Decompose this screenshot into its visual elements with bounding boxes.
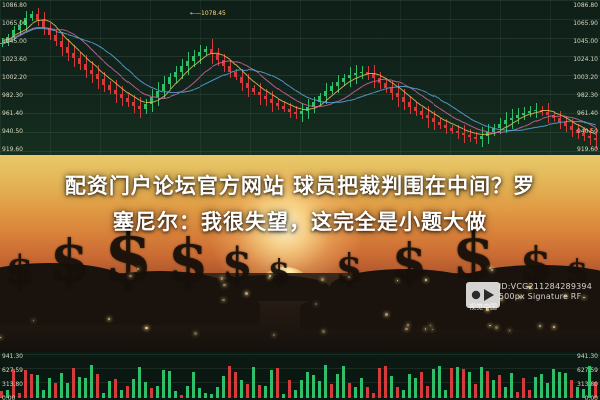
volume-bar — [24, 370, 27, 398]
volume-bar — [474, 384, 477, 398]
volume-bar — [150, 388, 153, 398]
axis-tick-label: 1086.80 — [573, 2, 598, 9]
volume-bar — [132, 379, 135, 398]
moving-average-segment — [301, 109, 307, 110]
volume-bar — [276, 368, 279, 398]
volume-bar — [552, 369, 555, 398]
axis-tick-label: 941.30 — [577, 353, 598, 360]
dollar-sign-icon: $ — [222, 243, 253, 287]
volume-bar — [102, 393, 105, 398]
volume-bar — [462, 369, 465, 398]
axis-tick-label: 1003.20 — [573, 74, 598, 81]
candle-body — [54, 35, 57, 41]
volume-bar — [114, 379, 117, 398]
volume-bar — [306, 372, 309, 398]
sparkle — [321, 278, 324, 281]
volume-bar — [486, 371, 489, 398]
candle-body — [360, 72, 363, 74]
moving-average-segment — [313, 106, 319, 107]
volume-bar — [384, 366, 387, 398]
candle-body — [510, 118, 513, 121]
candle-body — [390, 88, 393, 93]
volume-bar — [162, 370, 165, 399]
volume-bar — [336, 374, 339, 398]
sparkle — [245, 292, 248, 295]
bottom-volume-chart: 941.30627.59313.800.00 941.30627.59313.8… — [0, 352, 600, 400]
volume-bar — [96, 374, 99, 398]
candle-body — [108, 85, 111, 90]
candle-body — [564, 122, 567, 126]
top-chart-candles — [0, 0, 600, 160]
volume-bar — [342, 366, 345, 398]
candle-body — [186, 61, 189, 66]
volume-bar — [78, 377, 81, 398]
dollar-sign-icon: $ — [520, 241, 552, 287]
volume-bar — [288, 380, 291, 398]
watermark-id: ID:VCG211284289394 — [499, 282, 592, 291]
moving-average-segment — [512, 130, 518, 131]
volume-bar — [564, 373, 567, 398]
moving-average-segment — [325, 102, 331, 103]
axis-tick-label: 313.80 — [2, 381, 23, 388]
candle-body — [474, 137, 477, 139]
candle-body — [594, 138, 597, 140]
candle-body — [396, 93, 399, 98]
candle-body — [162, 84, 165, 91]
moving-average-segment — [242, 69, 248, 70]
volume-bar — [456, 367, 459, 398]
volume-bar — [414, 378, 417, 398]
candle-body — [234, 72, 237, 78]
candle-body — [258, 92, 261, 96]
volume-bar — [66, 383, 69, 398]
volume-bar — [234, 372, 237, 398]
candle-body — [78, 58, 81, 64]
volume-bar — [468, 372, 471, 398]
candle-body — [498, 124, 501, 128]
candle-body — [468, 135, 471, 137]
volume-bar — [372, 393, 375, 398]
volume-bar — [84, 378, 87, 398]
volume-bar — [378, 368, 381, 398]
dollar-sign-icon: $ — [50, 233, 89, 289]
sparkle — [553, 326, 555, 328]
volume-bar — [48, 378, 51, 398]
candle-body — [264, 96, 267, 100]
volume-bar — [360, 378, 363, 398]
volume-bar — [270, 370, 273, 398]
axis-tick-label: 940.50 — [577, 128, 598, 135]
volume-bar — [438, 366, 441, 398]
volume-bar — [294, 390, 297, 398]
volume-bar — [174, 391, 177, 398]
top-candlestick-chart: 1086.801065.001045.001023.601002.20982.3… — [0, 0, 600, 160]
candle-body — [114, 90, 117, 94]
axis-tick-label: 627.59 — [2, 367, 23, 374]
volume-bar — [444, 390, 447, 398]
top-chart-annotation: ←—1078.45 — [190, 10, 226, 17]
candle-body — [450, 128, 453, 131]
candle-body — [180, 66, 183, 72]
candle-body — [282, 106, 285, 109]
moving-average-segment — [505, 130, 511, 131]
volume-bar — [546, 383, 549, 398]
candle-body — [126, 98, 129, 102]
volume-bar — [204, 393, 207, 398]
volume-bar — [186, 386, 189, 398]
candle-body — [240, 77, 243, 83]
volume-bar — [36, 375, 39, 398]
candle-body — [144, 104, 147, 109]
volume-bar — [246, 384, 249, 398]
volume-bar — [510, 373, 513, 398]
candle-body — [204, 49, 207, 53]
candle-body — [90, 70, 93, 75]
candle-body — [408, 102, 411, 107]
sparkle — [407, 324, 409, 326]
sparkle — [491, 269, 493, 271]
moving-average-segment — [487, 132, 493, 134]
volume-bar — [228, 366, 231, 399]
volume-bar — [516, 392, 519, 398]
moving-average-segment — [554, 115, 560, 116]
volume-bar — [264, 386, 267, 398]
candle-body — [546, 112, 549, 115]
volume-bar — [426, 386, 429, 398]
dollar-sign-icon: $ — [268, 255, 290, 287]
sparkle — [425, 328, 427, 330]
candle-body — [504, 120, 507, 124]
volume-bar — [144, 382, 147, 398]
volume-bar — [324, 365, 327, 398]
dollar-sign-icon: $ — [336, 249, 362, 287]
candle-body — [444, 125, 447, 128]
headline-line-2: 塞尼尔：我很失望，这完全是小题大做 — [0, 204, 600, 240]
volume-bar — [492, 380, 495, 398]
volume-bar — [408, 374, 411, 398]
volume-bar — [396, 387, 399, 398]
candle-body — [330, 86, 333, 91]
dollar-sign-icon: $ — [6, 251, 34, 291]
volume-bar — [252, 367, 255, 398]
watermark-signature: 500px Signature RF — [499, 292, 592, 301]
axis-tick-label: 940.50 — [2, 128, 23, 135]
volume-bar — [240, 380, 243, 398]
visual-china-logo-label: 视觉中国 — [466, 302, 500, 312]
axis-tick-label: 919.60 — [577, 146, 598, 153]
headline-line-1: 配资门户论坛官方网站 球员把裁判围在中间？罗 — [0, 168, 600, 204]
candle-body — [132, 102, 135, 106]
volume-bar — [366, 387, 369, 398]
volume-bar — [480, 367, 483, 398]
candle-body — [276, 103, 279, 106]
candle-body — [516, 115, 519, 118]
sparkle — [145, 327, 147, 329]
volume-bar — [138, 367, 141, 398]
axis-tick-label: 1024.10 — [573, 56, 598, 63]
moving-average-segment — [571, 121, 577, 122]
volume-bar — [498, 375, 501, 398]
axis-tick-label: 1045.00 — [573, 38, 598, 45]
volume-bar — [42, 390, 45, 398]
candle-body — [414, 107, 417, 111]
volume-bar — [390, 376, 393, 398]
gridline — [0, 354, 600, 355]
sparkle — [221, 277, 223, 279]
axis-tick-label: 1002.20 — [2, 74, 27, 81]
candle-body — [270, 99, 273, 103]
candle-body — [96, 74, 99, 79]
volume-bar — [210, 394, 213, 398]
candle-body — [402, 97, 405, 102]
volume-bar — [402, 390, 405, 398]
moving-average-segment — [398, 86, 404, 87]
watermark-block: ID:VCG211284289394 500px Signature RF — [499, 282, 592, 301]
volume-bar — [258, 385, 261, 398]
candle-body — [288, 109, 291, 112]
sparkle — [194, 332, 197, 335]
axis-tick-label: 0.00 — [2, 395, 15, 400]
volume-bar — [420, 372, 423, 398]
candle-body — [324, 91, 327, 97]
volume-bar — [30, 374, 33, 398]
candle-body — [588, 136, 591, 138]
volume-bar — [312, 375, 315, 398]
candle-body — [534, 110, 537, 111]
candle-body — [336, 82, 339, 86]
volume-bar — [450, 368, 453, 398]
candle-body — [198, 52, 201, 56]
volume-bar — [540, 374, 543, 398]
volume-bar — [192, 372, 195, 398]
axis-tick-label: 941.30 — [2, 353, 23, 360]
axis-tick-label: 1045.00 — [2, 38, 27, 45]
candle-body — [570, 126, 573, 130]
volume-bar — [216, 387, 219, 398]
volume-bar — [522, 378, 525, 398]
candle-body — [216, 54, 219, 60]
volume-bar — [348, 383, 351, 398]
moving-average-segment — [542, 110, 548, 111]
volume-bar — [60, 373, 63, 398]
news-thumbnail-image: 1086.801065.001045.001023.601002.20982.3… — [0, 0, 600, 400]
sparkle — [322, 330, 325, 333]
volume-bar — [198, 388, 201, 398]
axis-tick-label: 1065.90 — [573, 20, 598, 27]
sparkle — [509, 330, 510, 331]
volume-bar — [168, 371, 171, 398]
volume-bar — [570, 380, 573, 398]
sparkle — [269, 275, 270, 276]
candle-body — [102, 79, 105, 85]
candle-body — [342, 78, 345, 82]
candle-body — [30, 14, 33, 18]
sparkle — [385, 313, 388, 316]
candle-body — [438, 122, 441, 125]
candle-body — [456, 131, 459, 133]
axis-tick-label: 0.00 — [585, 395, 598, 400]
sparkle — [33, 320, 34, 321]
volume-bar — [180, 395, 183, 398]
volume-bar — [90, 365, 93, 398]
candle-body — [174, 72, 177, 78]
candle-body — [60, 41, 63, 47]
candle-body — [192, 56, 195, 61]
volume-bar — [558, 372, 561, 398]
volume-bar — [354, 387, 357, 398]
candle-body — [354, 73, 357, 75]
volume-bar — [18, 393, 21, 398]
candle-body — [252, 88, 255, 92]
axis-tick-label: 961.40 — [2, 110, 23, 117]
candle-body — [246, 83, 249, 88]
candle-body — [426, 115, 429, 119]
axis-tick-label: 982.30 — [2, 92, 23, 99]
candle-body — [372, 74, 375, 78]
candle-body — [84, 64, 87, 70]
candle-body — [462, 133, 465, 135]
headline-text: 配资门户论坛官方网站 球员把裁判围在中间？罗 塞尼尔：我很失望，这完全是小题大做 — [0, 168, 600, 240]
candle-body — [66, 47, 69, 54]
candle-body — [348, 75, 351, 78]
volume-bar — [222, 376, 225, 398]
sparkle — [539, 325, 541, 327]
axis-tick-label: 982.30 — [577, 92, 598, 99]
volume-bar — [126, 386, 129, 398]
candle-body — [120, 94, 123, 99]
volume-bar — [432, 369, 435, 398]
candle-body — [300, 111, 303, 114]
candle-body — [138, 106, 141, 109]
axis-tick-label: 627.59 — [577, 367, 598, 374]
volume-bar — [534, 377, 537, 398]
sparkle — [397, 280, 398, 281]
volume-bar — [120, 390, 123, 398]
volume-bar — [330, 384, 333, 398]
candle-body — [420, 111, 423, 115]
candle-body — [168, 77, 171, 84]
sparkle — [348, 276, 350, 278]
axis-tick-label: 919.60 — [2, 146, 23, 153]
volume-bar — [54, 383, 57, 398]
volume-bar — [108, 381, 111, 398]
candle-body — [72, 53, 75, 58]
volume-bar — [576, 387, 579, 398]
candle-body — [480, 136, 483, 139]
axis-tick-label: 1086.80 — [2, 2, 27, 9]
candle-body — [294, 112, 297, 114]
volume-bar — [528, 390, 531, 398]
axis-tick-label: 313.80 — [577, 381, 598, 388]
volume-bar — [300, 380, 303, 398]
axis-tick-label: 961.40 — [577, 110, 598, 117]
axis-tick-label: 1023.60 — [2, 56, 27, 63]
volume-bar — [504, 387, 507, 398]
moving-average-segment — [518, 129, 524, 131]
volume-bar — [318, 381, 321, 398]
volume-bar — [72, 368, 75, 398]
candle-body — [432, 118, 435, 122]
moving-average-segment — [158, 97, 164, 98]
volume-bar — [156, 386, 159, 398]
axis-tick-label: 1065.00 — [2, 20, 27, 27]
volume-bar — [282, 394, 285, 398]
